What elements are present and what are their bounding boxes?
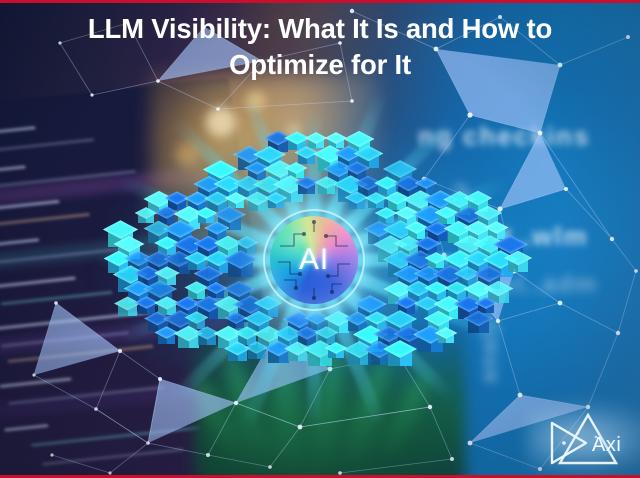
page-title: LLM Visibility: What It Is and How to Op… — [0, 11, 640, 83]
cloud-cube — [298, 179, 315, 196]
title-line-1: LLM Visibility: What It Is and How to — [4, 11, 636, 47]
cloud-cube — [318, 179, 335, 196]
cloud-cube — [268, 194, 284, 210]
cloud-cube — [388, 344, 412, 368]
banner-image: ng checkins 2 est..wlm st..adm analysis — [0, 0, 640, 478]
cloud-cube — [138, 209, 154, 225]
cloud-cube — [468, 314, 489, 335]
ai-core-label: AI — [270, 243, 358, 277]
cloud-cube — [158, 329, 175, 346]
cloud-cube — [228, 254, 253, 279]
logo-wordmark: Axi — [592, 434, 621, 457]
logo-halo — [528, 401, 640, 475]
cloud-cube — [288, 344, 307, 363]
title-line-2: Optimize for It — [4, 47, 636, 83]
cube-cloud-graphic: AI — [104, 125, 524, 395]
brand-logo[interactable]: Axi — [534, 407, 640, 469]
cloud-cube — [368, 194, 384, 210]
cloud-cube — [348, 194, 365, 211]
cloud-cube — [198, 329, 216, 347]
ai-sphere-icon: AI — [270, 216, 358, 304]
cloud-cube — [248, 344, 265, 361]
cloud-cube — [508, 254, 528, 274]
cloud-cube — [198, 209, 214, 225]
cloud-cube — [438, 329, 454, 345]
cloud-cube — [328, 344, 344, 360]
